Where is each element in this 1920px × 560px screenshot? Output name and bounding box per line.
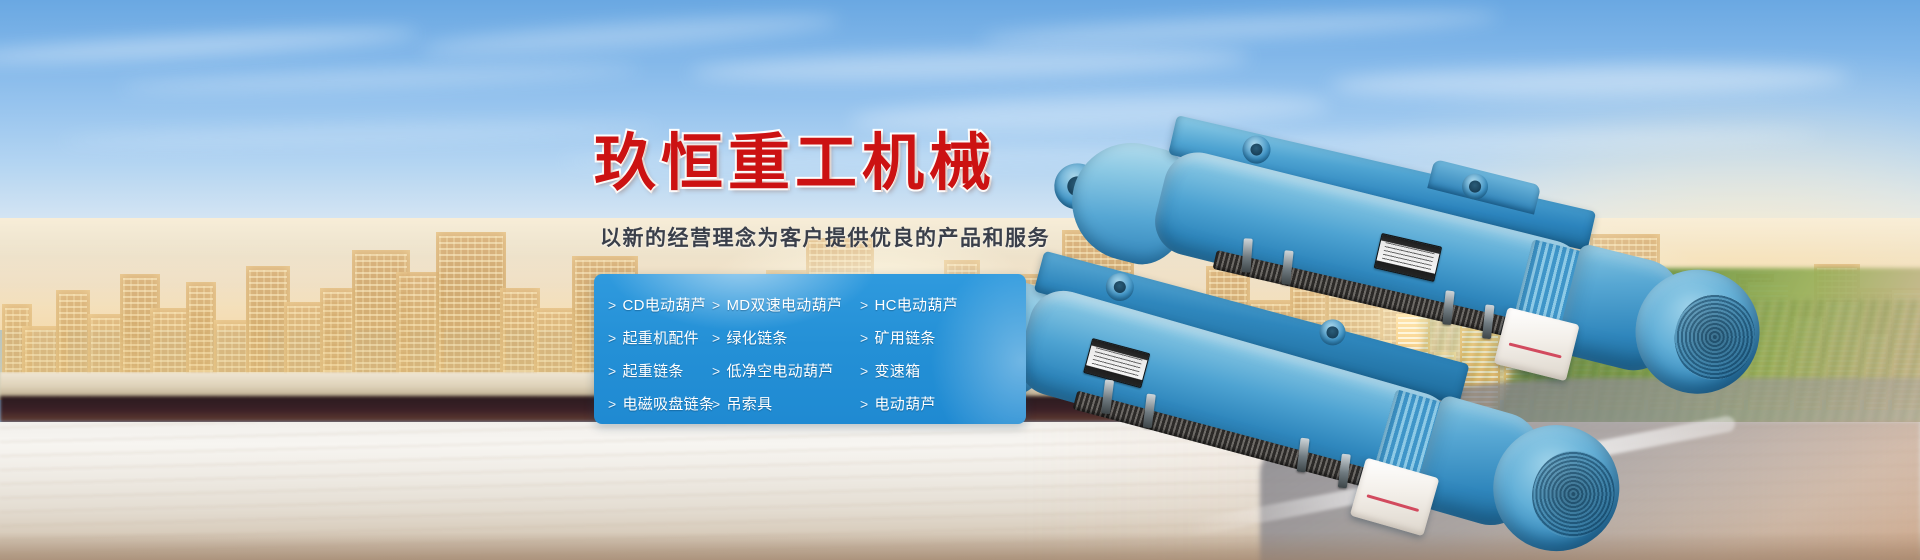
product-link[interactable]: >CD电动葫芦 [608,288,712,321]
product-link[interactable]: >矿用链条 [860,321,1026,354]
product-link-label: 起重链条 [622,360,683,381]
product-link[interactable]: >变速箱 [860,354,1026,387]
chevron-right-icon: > [712,363,720,379]
product-link-label: MD双速电动葫芦 [726,294,842,315]
chevron-right-icon: > [860,330,868,346]
product-link-label: 电磁吸盘链条 [622,393,714,414]
product-link-label: HC电动葫芦 [874,294,957,315]
product-link-label: 吊索具 [726,393,772,414]
promo-banner: 玖恒重工机械 以新的经营理念为客户提供优良的产品和服务 >CD电动葫芦>MD双速… [0,0,1920,560]
product-link-label: 起重机配件 [622,327,699,348]
product-link-label: 矿用链条 [874,327,935,348]
product-link-label: 低净空电动葫芦 [726,360,833,381]
chevron-right-icon: > [860,363,868,379]
product-link[interactable]: >吊索具 [712,387,860,420]
chevron-right-icon: > [712,330,720,346]
product-links-grid: >CD电动葫芦>MD双速电动葫芦>HC电动葫芦>起重机配件>绿化链条>矿用链条>… [594,288,1026,420]
product-links-panel: >CD电动葫芦>MD双速电动葫芦>HC电动葫芦>起重机配件>绿化链条>矿用链条>… [594,274,1026,424]
chevron-right-icon: > [608,363,616,379]
banner-subtitle: 以新的经营理念为客户提供优良的产品和服务 [600,222,1050,252]
product-link-label: CD电动葫芦 [622,294,705,315]
chevron-right-icon: > [608,330,616,346]
product-link[interactable]: >MD双速电动葫芦 [712,288,860,321]
chevron-right-icon: > [712,297,720,313]
product-link[interactable]: >绿化链条 [712,321,860,354]
product-link[interactable]: >电动葫芦 [860,387,1026,420]
chevron-right-icon: > [860,396,868,412]
chevron-right-icon: > [712,396,720,412]
product-link[interactable]: >低净空电动葫芦 [712,354,860,387]
product-link[interactable]: >HC电动葫芦 [860,288,1026,321]
product-link[interactable]: >电磁吸盘链条 [608,387,712,420]
product-link-label: 绿化链条 [726,327,787,348]
product-link[interactable]: >起重链条 [608,354,712,387]
product-link-label: 变速箱 [874,360,920,381]
chevron-right-icon: > [860,297,868,313]
product-link[interactable]: >起重机配件 [608,321,712,354]
chevron-right-icon: > [608,396,616,412]
chevron-right-icon: > [608,297,616,313]
product-link-label: 电动葫芦 [874,393,935,414]
banner-copy: 玖恒重工机械 以新的经营理念为客户提供优良的产品和服务 >CD电动葫芦>MD双速… [0,0,1920,560]
page-title: 玖恒重工机械 [594,112,996,202]
